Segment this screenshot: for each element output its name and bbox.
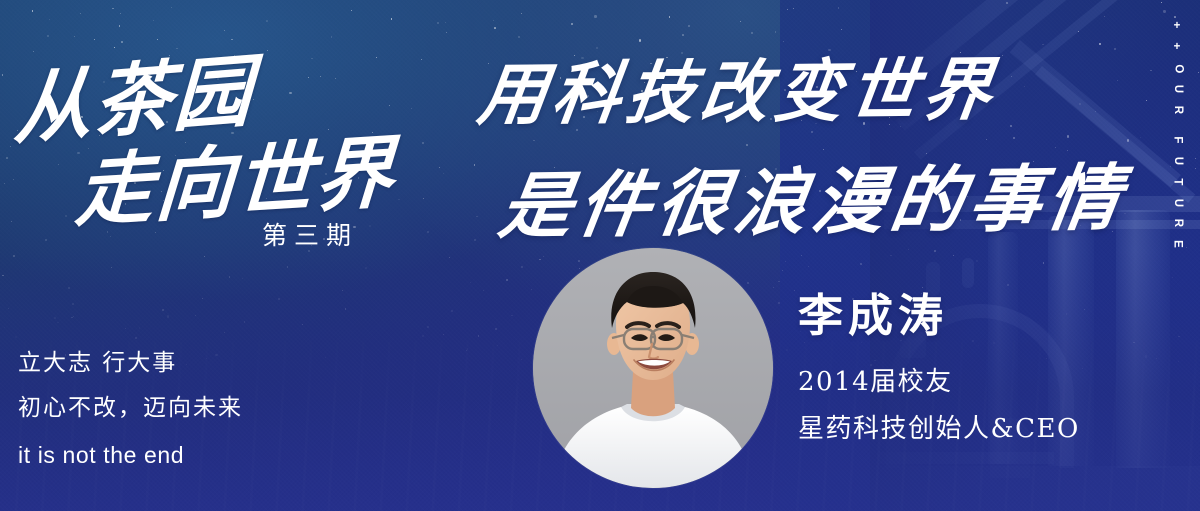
slogan-line2: 初心不改，迈向未来 <box>18 397 243 420</box>
our-future-vertical-label: + + O U R F U T U R E <box>1164 18 1190 253</box>
person-affiliation: 2014届校友 <box>798 361 1080 398</box>
person-role: 星药科技创始人&CEO <box>798 408 1080 445</box>
series-title: 从茶园 走向世界 <box>0 28 420 213</box>
headline-line1: 用科技改变世界 <box>473 33 1133 139</box>
portrait-photo <box>533 248 773 488</box>
slogan-block: 立大志 行大事 初心不改，迈向未来 it is not the end <box>18 352 243 469</box>
slogan-line3: it is not the end <box>18 442 243 469</box>
edge-letter-1: U <box>1168 85 1186 93</box>
slogan-line1: 立大志 行大事 <box>18 352 243 375</box>
edge-letter-6: U <box>1168 198 1186 206</box>
edge-letter-5: T <box>1168 178 1186 185</box>
edge-letter-4: U <box>1168 157 1186 165</box>
edge-letter-7: R <box>1168 219 1186 227</box>
headline-line2: 是件很浪漫的事情 <box>494 139 1134 253</box>
person-name: 李成涛 <box>798 292 1080 339</box>
issue-number: 第三期 <box>262 216 358 252</box>
edge-letter-0: O <box>1168 64 1186 73</box>
portrait-illustration <box>533 248 773 488</box>
plus-icon-1: + <box>1174 18 1181 36</box>
alumni-banner: 从茶园 走向世界 第三期 用科技改变世界 是件很浪漫的事情 立大志 行大事 初心… <box>0 0 1200 511</box>
edge-letter-2: R <box>1168 106 1186 114</box>
plus-icon-2: + <box>1174 39 1181 57</box>
person-info: 李成涛 2014届校友 星药科技创始人&CEO <box>798 292 1080 445</box>
edge-letter-8: E <box>1168 240 1186 248</box>
edge-letter-3: F <box>1168 136 1186 143</box>
headline: 用科技改变世界 是件很浪漫的事情 <box>466 36 1126 248</box>
